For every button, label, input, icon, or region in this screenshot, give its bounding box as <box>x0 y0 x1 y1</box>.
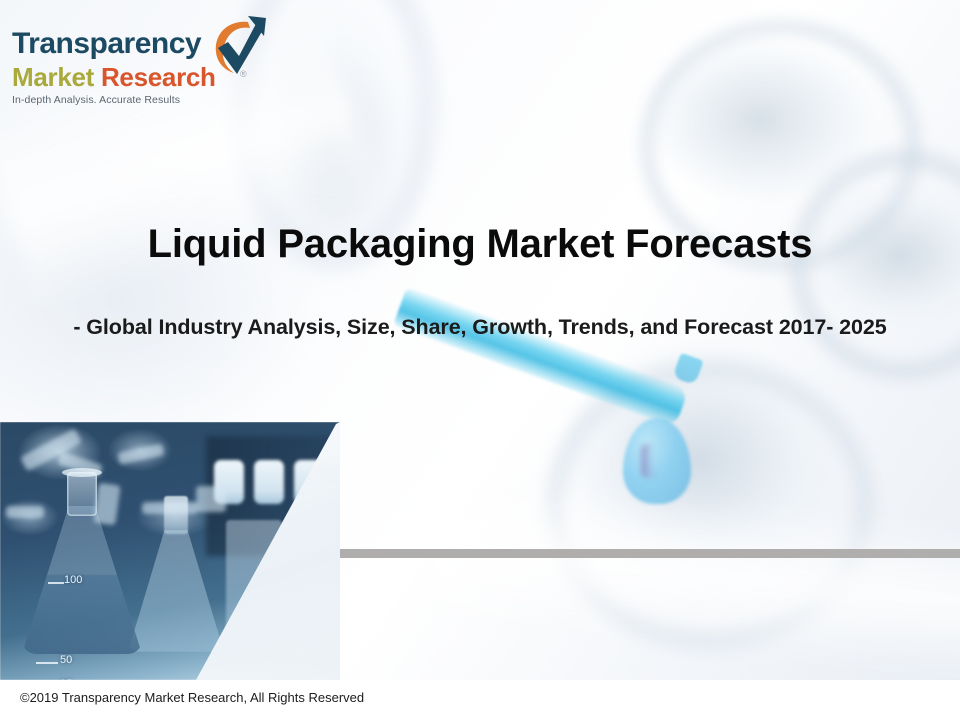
background-erlenmeyer-flask <box>128 496 224 652</box>
registered-trademark-symbol: ® <box>240 69 247 79</box>
flask-tick-mark <box>48 582 64 584</box>
foreground-erlenmeyer-flask: 100 50 25 <box>22 472 142 654</box>
light-streak-decor <box>424 471 960 679</box>
lab-photo-band: 100 50 25 <box>0 422 340 680</box>
checkmark-arrow-icon <box>204 12 274 82</box>
flask-tick-mark <box>36 662 58 664</box>
slide-subtitle: - Global Industry Analysis, Size, Share,… <box>0 315 960 340</box>
presentation-slide: Transparency Market Research In-depth An… <box>0 0 960 720</box>
horizontal-divider <box>258 549 960 558</box>
flask-neck <box>67 472 97 516</box>
test-tube <box>254 460 284 504</box>
flask-neck <box>164 496 188 534</box>
flask-label-50: 50 <box>60 654 72 666</box>
logo-market-word: Market <box>12 62 101 92</box>
copyright-text: ©2019 Transparency Market Research, All … <box>20 690 364 705</box>
logo-tagline: In-depth Analysis. Accurate Results <box>12 92 270 108</box>
flask-label-100: 100 <box>64 574 82 586</box>
logo-research-word: Research <box>101 62 216 92</box>
flask-cone <box>128 530 224 652</box>
company-logo[interactable]: Transparency Market Research In-depth An… <box>12 26 270 126</box>
slide-title: Liquid Packaging Market Forecasts <box>0 222 960 267</box>
flask-lip <box>62 468 102 477</box>
